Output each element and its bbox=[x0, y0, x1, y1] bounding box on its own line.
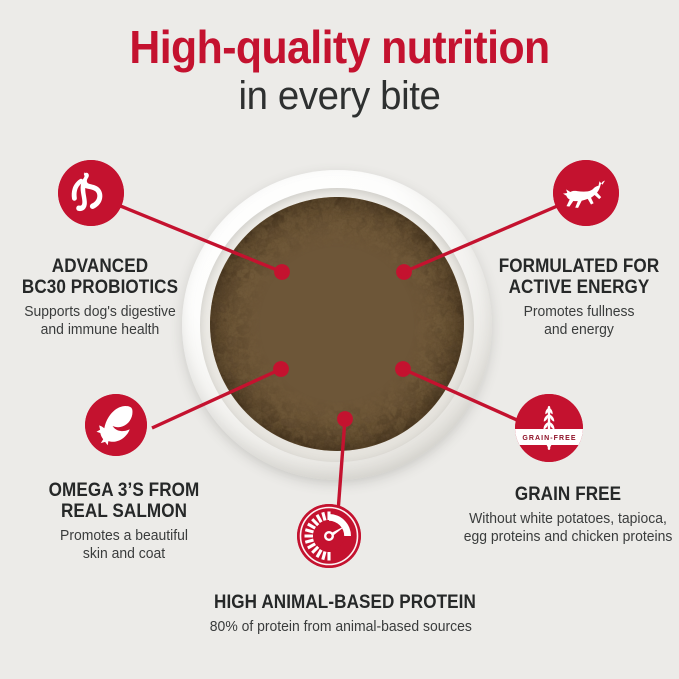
jumping-dog-icon bbox=[553, 160, 619, 226]
feature-desc-line-1: Supports dog's digestive bbox=[3, 303, 196, 321]
feature-title-line-2: ACTIVE ENERGY bbox=[489, 277, 669, 298]
dog-food-bowl bbox=[176, 166, 498, 488]
grain-free-badge-band: GRAIN-FREE bbox=[515, 429, 583, 445]
feature-title-line-1: GRAIN FREE bbox=[458, 484, 678, 505]
headline-line-1: High-quality nutrition bbox=[24, 24, 655, 70]
feature-title-line-1: HIGH ANIMAL-BASED PROTEIN bbox=[214, 592, 466, 613]
kibble-fill bbox=[210, 197, 464, 451]
feature-title-line-2: BC30 PROBIOTICS bbox=[6, 277, 193, 298]
feature-title-line-1: FORMULATED FOR bbox=[489, 256, 669, 277]
feature-title-line-1: ADVANCED bbox=[6, 256, 193, 277]
headline-line-2: in every bite bbox=[14, 76, 666, 116]
feature-desc-line-1: Without white potatoes, tapioca, bbox=[455, 510, 679, 528]
feature-title-line-1: OMEGA 3’S FROM bbox=[25, 480, 223, 501]
grain-free-badge-text: GRAIN-FREE bbox=[522, 433, 576, 442]
wheat-stalk-icon: GRAIN-FREE bbox=[515, 394, 583, 462]
gauge-meter-icon bbox=[297, 504, 361, 568]
feature-desc-line-2: and energy bbox=[486, 321, 672, 339]
infographic-page: High-quality nutrition in every bite ADV… bbox=[0, 0, 679, 679]
feature-desc-line-2: and immune health bbox=[3, 321, 196, 339]
stomach-icon bbox=[58, 160, 124, 226]
feature-desc-line-1: Promotes fullness bbox=[486, 303, 672, 321]
feature-title-line-2: REAL SALMON bbox=[25, 501, 223, 522]
feature-desc-line-1: 80% of protein from animal-based sources bbox=[210, 618, 470, 636]
feature-desc-line-2: skin and coat bbox=[22, 545, 227, 563]
salmon-fish-icon bbox=[85, 394, 147, 456]
feature-desc-line-1: Promotes a beautiful bbox=[22, 527, 227, 545]
feature-desc-line-2: egg proteins and chicken proteins bbox=[455, 528, 679, 546]
page-title: High-quality nutrition in every bite bbox=[0, 24, 679, 116]
